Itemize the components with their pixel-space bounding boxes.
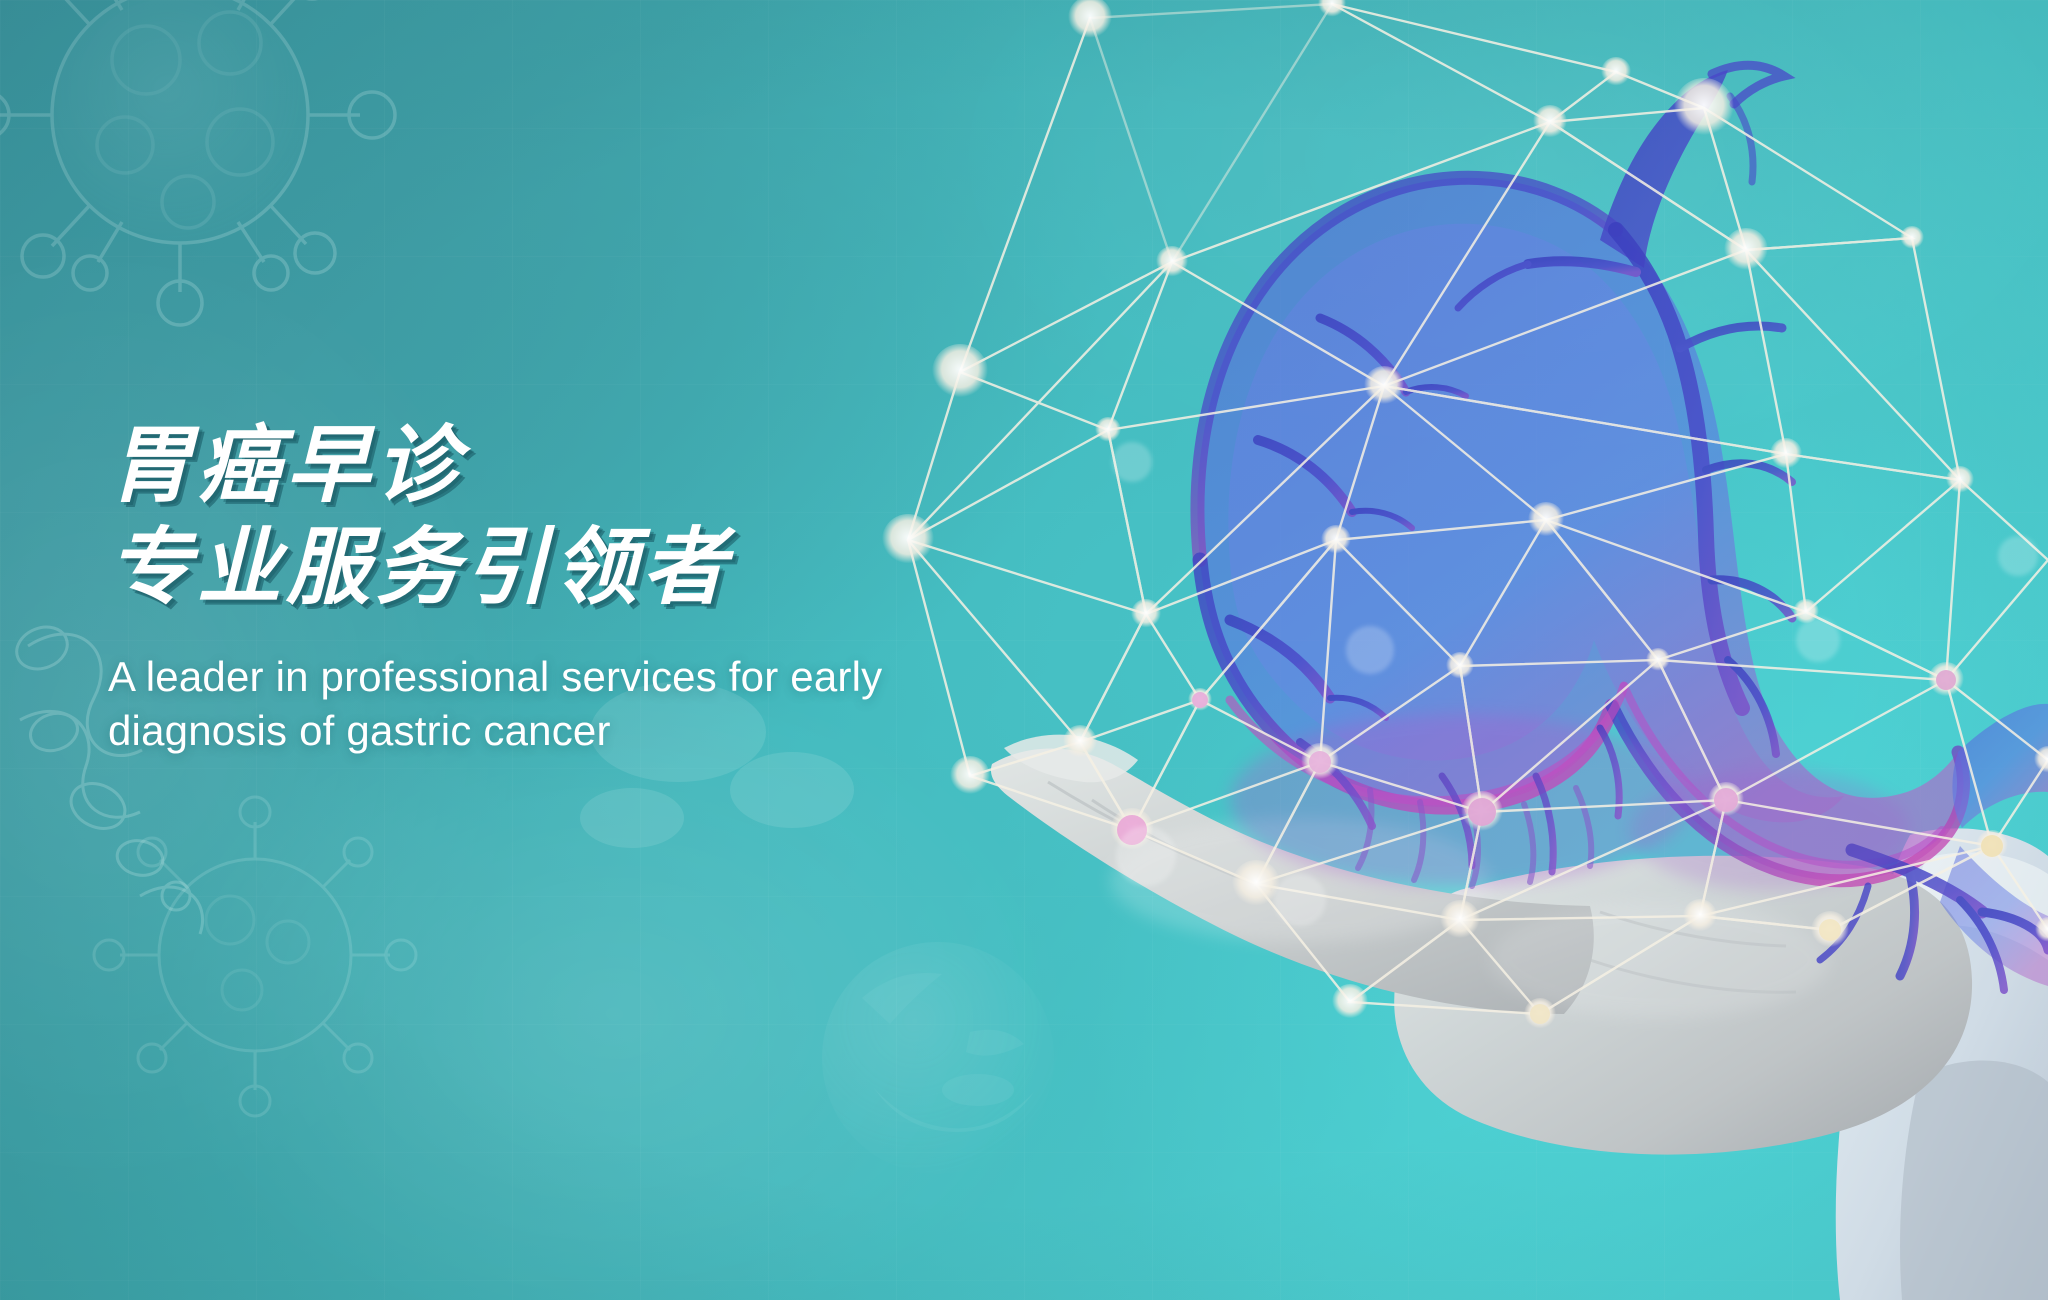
- banner-root: 胃癌早诊 专业服务引领者 A leader in professional se…: [0, 0, 2048, 1300]
- subtitle-line-2: diagnosis of gastric cancer: [108, 704, 898, 758]
- headline-line-1: 胃癌早诊: [108, 418, 1108, 512]
- page-title: 胃癌早诊 专业服务引领者: [108, 418, 1108, 614]
- headline-line-2: 专业服务引领者: [108, 520, 1108, 614]
- subtitle-line-1: A leader in professional services for ea…: [108, 650, 898, 704]
- stomach-organ: [1197, 65, 2048, 990]
- subtitle: A leader in professional services for ea…: [108, 650, 898, 758]
- hero-copy: 胃癌早诊 专业服务引领者 A leader in professional se…: [108, 418, 1108, 758]
